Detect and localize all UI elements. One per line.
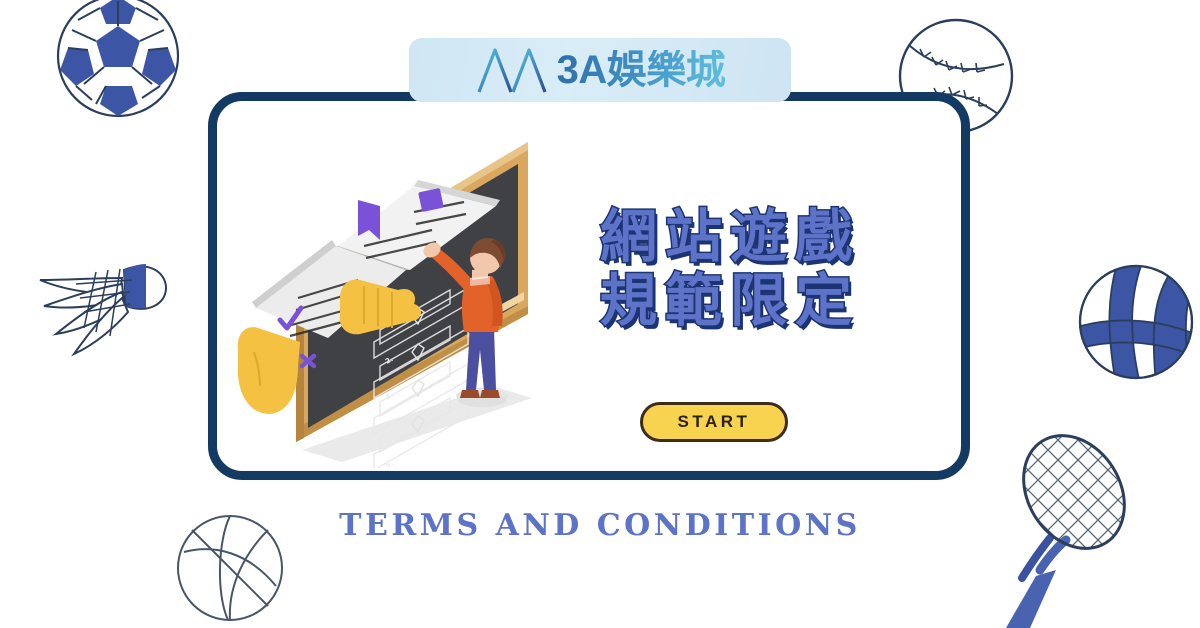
shuttlecock-icon (26, 236, 178, 364)
left-hand (238, 327, 300, 414)
chalkboard-rules-illustration: 1. 2. 3. 4. 5. (232, 128, 572, 468)
page-title-line-2: 規範限定 (575, 269, 885, 333)
board-item-5: 5. (384, 459, 395, 468)
poster-canvas: 3A娛樂城 (0, 0, 1200, 628)
page-title: 網站遊戲 規範限定 (575, 205, 885, 334)
footer-caption: TERMS AND CONDITIONS (0, 508, 1200, 543)
soccer-ball-icon (48, 0, 188, 126)
brand-badge[interactable]: 3A娛樂城 (409, 38, 791, 102)
start-button[interactable]: START (640, 402, 788, 442)
page-title-line-1: 網站遊戲 (575, 205, 885, 269)
board-item-3: 3. (384, 391, 395, 402)
aa-mountain-logo-icon (475, 46, 551, 94)
volleyball-icon (1072, 258, 1200, 386)
brand-name: 3A娛樂城 (557, 50, 726, 90)
